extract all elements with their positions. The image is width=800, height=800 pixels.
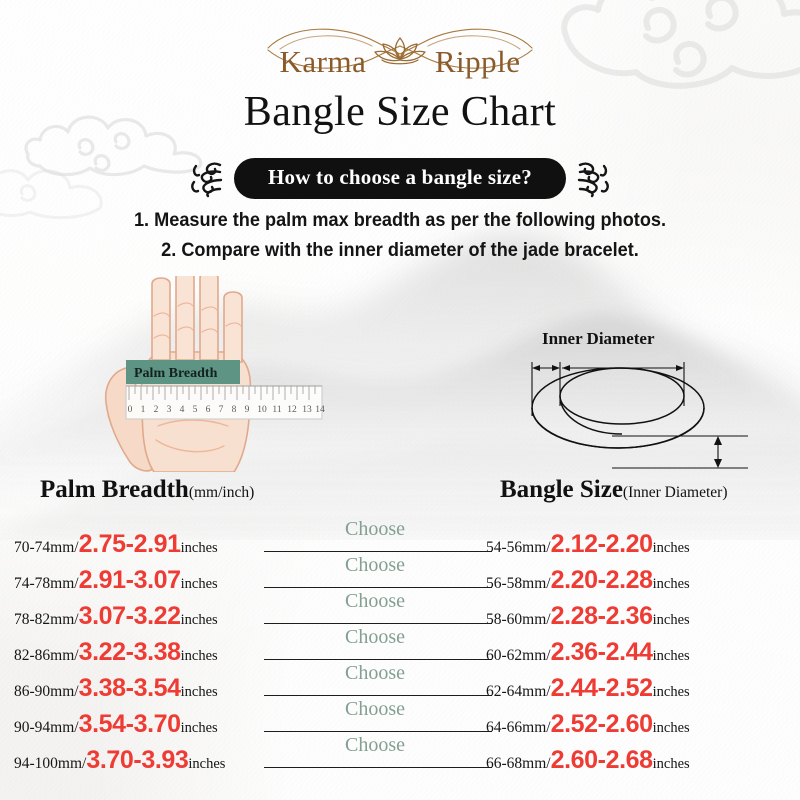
svg-text:9: 9	[245, 405, 250, 415]
choose-underline	[264, 659, 492, 660]
bangle-inch-value: 2.52-2.60	[551, 710, 653, 738]
palm-breadth-column-heading: Palm Breadth(mm/inch)	[40, 476, 254, 504]
palm-breadth-cell: 70-74mm/2.75-2.91inches	[14, 530, 264, 559]
choose-label[interactable]: Choose	[264, 698, 486, 721]
palm-unit-label: inches	[181, 540, 218, 556]
choose-underline	[264, 623, 492, 624]
svg-text:2: 2	[154, 405, 159, 415]
palm-mm-value: 70-74mm/	[14, 539, 79, 556]
svg-text:0: 0	[128, 405, 133, 415]
instructions-list: 1. Measure the palm max breadth as per t…	[0, 206, 800, 265]
choose-underline	[264, 551, 492, 552]
svg-text:10: 10	[257, 405, 267, 415]
bangle-mm-value: 64-66mm/	[486, 719, 551, 736]
palm-breadth-cell: 74-78mm/2.91-3.07inches	[14, 566, 264, 595]
bangle-size-cell: 66-68mm/2.60-2.68inches	[486, 746, 786, 775]
bangle-inch-value: 2.60-2.68	[551, 746, 653, 774]
choose-underline	[264, 731, 492, 732]
hand-palm-measurement-illustration: 012 345 678 91011 121314 Palm Breadth	[96, 276, 396, 472]
choose-label[interactable]: Choose	[264, 590, 486, 613]
svg-text:11: 11	[272, 405, 281, 415]
bangle-size-cell: 62-64mm/2.44-2.52inches	[486, 674, 786, 703]
bangle-unit-label: inches	[653, 576, 690, 592]
bangle-mm-value: 66-68mm/	[486, 755, 551, 772]
bangle-unit-label: inches	[653, 648, 690, 664]
bangle-size-cell: 60-62mm/2.36-2.44inches	[486, 638, 786, 667]
bangle-inch-value: 2.36-2.44	[551, 638, 653, 666]
bangle-mm-value: 58-60mm/	[486, 611, 551, 628]
swirl-ornament-left-icon	[190, 158, 224, 198]
svg-text:5: 5	[193, 405, 198, 415]
brand-logo: Karma Ripple	[0, 18, 800, 80]
palm-breadth-cell: 78-82mm/3.07-3.22inches	[14, 602, 264, 631]
palm-inch-value: 2.75-2.91	[79, 530, 181, 558]
how-to-banner: How to choose a bangle size?	[234, 158, 566, 199]
bangle-mm-value: 62-64mm/	[486, 683, 551, 700]
table-row: 86-90mm/3.38-3.54inchesChoose62-64mm/2.4…	[0, 666, 800, 702]
choose-cell[interactable]: Choose	[264, 522, 486, 552]
palm-mm-value: 94-100mm/	[14, 755, 86, 772]
banner-row: How to choose a bangle size?	[0, 154, 800, 202]
bangle-size-cell: 58-60mm/2.28-2.36inches	[486, 602, 786, 631]
bangle-inner-diameter-illustration: Inner Diameter	[490, 326, 760, 472]
choose-label[interactable]: Choose	[264, 518, 486, 541]
palm-unit-label: inches	[181, 720, 218, 736]
bangle-size-cell: 54-56mm/2.12-2.20inches	[486, 530, 786, 559]
bangle-inch-value: 2.20-2.28	[551, 566, 653, 594]
svg-text:3: 3	[167, 405, 172, 415]
page-title: Bangle Size Chart	[0, 88, 800, 136]
choose-cell[interactable]: Choose	[264, 630, 486, 660]
svg-text:7: 7	[219, 405, 224, 415]
palm-inch-value: 3.07-3.22	[79, 602, 181, 630]
bangle-inch-value: 2.12-2.20	[551, 530, 653, 558]
palm-breadth-cell: 94-100mm/3.70-3.93inches	[14, 746, 264, 775]
choose-label[interactable]: Choose	[264, 626, 486, 649]
table-row: 74-78mm/2.91-3.07inchesChoose56-58mm/2.2…	[0, 558, 800, 594]
bangle-size-heading-unit: (Inner Diameter)	[623, 484, 728, 501]
ruler-graphic: 012 345 678 91011 121314	[126, 386, 325, 419]
palm-mm-value: 74-78mm/	[14, 575, 79, 592]
svg-text:8: 8	[232, 405, 237, 415]
brand-word-left: Karma	[279, 44, 366, 80]
table-row: 90-94mm/3.54-3.70inchesChoose64-66mm/2.5…	[0, 702, 800, 738]
choose-label[interactable]: Choose	[264, 554, 486, 577]
palm-inch-value: 3.22-3.38	[79, 638, 181, 666]
choose-cell[interactable]: Choose	[264, 558, 486, 588]
palm-mm-value: 86-90mm/	[14, 683, 79, 700]
bangle-unit-label: inches	[653, 756, 690, 772]
palm-mm-value: 78-82mm/	[14, 611, 79, 628]
palm-unit-label: inches	[181, 612, 218, 628]
choose-cell[interactable]: Choose	[264, 702, 486, 732]
bangle-unit-label: inches	[653, 720, 690, 736]
palm-breadth-heading-unit: (mm/inch)	[189, 484, 254, 501]
bangle-mm-value: 54-56mm/	[486, 539, 551, 556]
palm-unit-label: inches	[188, 756, 225, 772]
table-row: 82-86mm/3.22-3.38inchesChoose60-62mm/2.3…	[0, 630, 800, 666]
choose-label[interactable]: Choose	[264, 662, 486, 685]
choose-cell[interactable]: Choose	[264, 738, 486, 768]
size-chart-table: 70-74mm/2.75-2.91inchesChoose54-56mm/2.1…	[0, 522, 800, 774]
palm-breadth-cell: 86-90mm/3.38-3.54inches	[14, 674, 264, 703]
bangle-size-cell: 64-66mm/2.52-2.60inches	[486, 710, 786, 739]
brand-word-right: Ripple	[435, 44, 521, 80]
bangle-inch-value: 2.28-2.36	[551, 602, 653, 630]
bangle-unit-label: inches	[653, 684, 690, 700]
palm-breadth-cell: 90-94mm/3.54-3.70inches	[14, 710, 264, 739]
instruction-line-1: 1. Measure the palm max breadth as per t…	[28, 206, 772, 236]
choose-underline	[264, 767, 492, 768]
bangle-mm-value: 56-58mm/	[486, 575, 551, 592]
bangle-size-cell: 56-58mm/2.20-2.28inches	[486, 566, 786, 595]
bangle-size-heading-text: Bangle Size	[500, 476, 623, 503]
table-row: 94-100mm/3.70-3.93inchesChoose66-68mm/2.…	[0, 738, 800, 774]
palm-inch-value: 3.70-3.93	[86, 746, 188, 774]
palm-mm-value: 82-86mm/	[14, 647, 79, 664]
palm-unit-label: inches	[181, 648, 218, 664]
palm-breadth-cell: 82-86mm/3.22-3.38inches	[14, 638, 264, 667]
bangle-unit-label: inches	[653, 612, 690, 628]
choose-underline	[264, 587, 492, 588]
table-row: 78-82mm/3.07-3.22inchesChoose58-60mm/2.2…	[0, 594, 800, 630]
choose-underline	[264, 695, 492, 696]
palm-unit-label: inches	[181, 684, 218, 700]
bangle-size-column-heading: Bangle Size(Inner Diameter)	[500, 476, 728, 504]
instruction-line-2: 2. Compare with the inner diameter of th…	[28, 236, 772, 266]
palm-breadth-heading-text: Palm Breadth	[40, 476, 189, 503]
choose-cell[interactable]: Choose	[264, 594, 486, 624]
table-row: 70-74mm/2.75-2.91inchesChoose54-56mm/2.1…	[0, 522, 800, 558]
svg-text:14: 14	[315, 405, 325, 415]
swirl-ornament-right-icon	[576, 158, 610, 198]
palm-inch-value: 2.91-3.07	[79, 566, 181, 594]
svg-text:6: 6	[206, 405, 211, 415]
svg-text:Palm Breadth: Palm Breadth	[134, 366, 218, 381]
bangle-inch-value: 2.44-2.52	[551, 674, 653, 702]
palm-inch-value: 3.38-3.54	[79, 674, 181, 702]
palm-breadth-badge: Palm Breadth	[126, 360, 240, 384]
palm-inch-value: 3.54-3.70	[79, 710, 181, 738]
svg-text:4: 4	[180, 405, 185, 415]
inner-diameter-caption: Inner Diameter	[542, 329, 655, 348]
choose-label[interactable]: Choose	[264, 734, 486, 757]
choose-cell[interactable]: Choose	[264, 666, 486, 696]
palm-unit-label: inches	[181, 576, 218, 592]
svg-text:12: 12	[287, 405, 297, 415]
bangle-unit-label: inches	[653, 540, 690, 556]
palm-mm-value: 90-94mm/	[14, 719, 79, 736]
svg-text:13: 13	[302, 405, 312, 415]
bangle-mm-value: 60-62mm/	[486, 647, 551, 664]
svg-text:1: 1	[141, 405, 146, 415]
